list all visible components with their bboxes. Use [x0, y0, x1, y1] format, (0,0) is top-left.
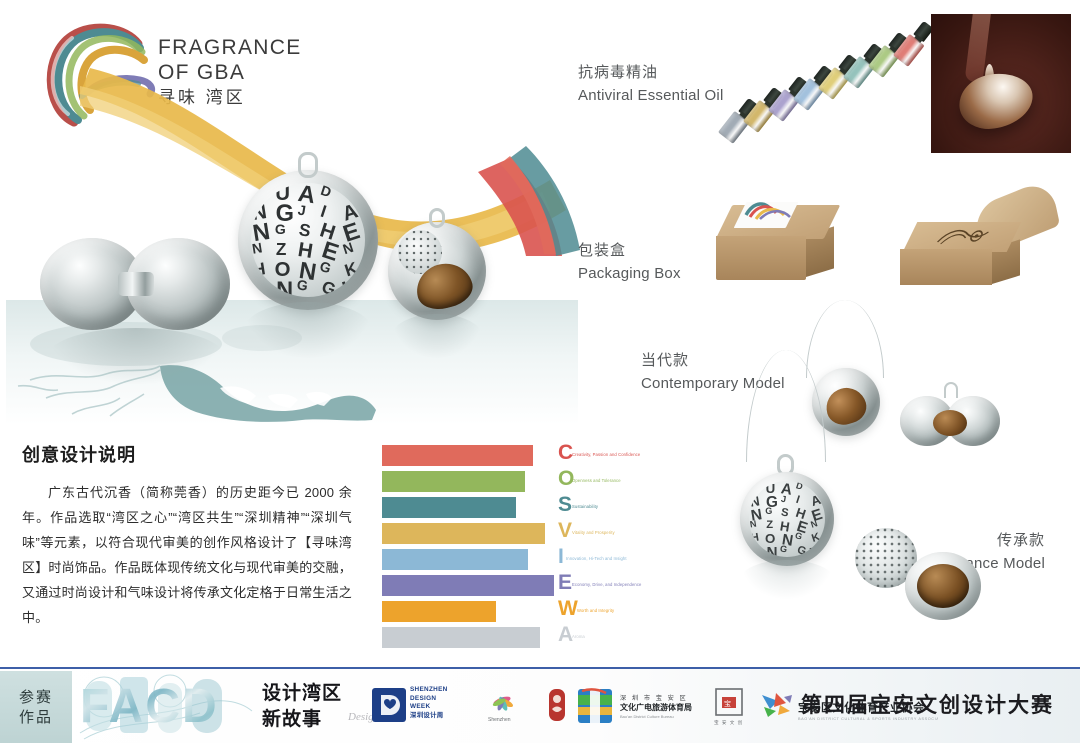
chart-bar [382, 627, 540, 648]
flower-burst-icon: Shenzhen [482, 685, 540, 729]
entry-badge-line-2: 作品 [19, 708, 53, 728]
footer-art-word: FACD [80, 679, 219, 734]
description-title: 创意设计说明 [22, 441, 352, 467]
chart-label: Sustainability [572, 504, 598, 510]
chart-letter: A [558, 622, 573, 648]
sdw-logo-text: SHENZHENDESIGNWEEK深圳设计周 [410, 686, 448, 720]
label-cn: 抗病毒精油 [578, 62, 723, 84]
locket-glyph: N [749, 519, 757, 529]
inheritance-necklace-product: GUADONGJIANGSHENZHENHONGKONGGU [720, 350, 850, 610]
locket-glyph: Z [766, 520, 773, 531]
locket-glyph: O [749, 544, 761, 557]
locket-glyph: O [251, 277, 269, 297]
chart-bar [382, 601, 496, 622]
locket-glyph: Z [276, 241, 287, 258]
packaging-box-closed [716, 205, 840, 289]
locket-glyph: J [297, 202, 307, 217]
chart-bar [382, 523, 545, 544]
chart-label: Vitality and Prosperity [572, 530, 615, 536]
locket-glyph: G [765, 507, 772, 516]
locket-glyph: G [251, 183, 267, 202]
chart-bar [382, 445, 533, 466]
chart-letter: W [558, 596, 578, 622]
clamshell-reflection [48, 328, 224, 384]
bao-an-district-logo: 宝 宝 安 文 创 [708, 685, 752, 729]
sponsor-logo-row: SHENZHENDESIGNWEEK深圳设计周 Shenzhen [372, 685, 792, 731]
necklace-chain [746, 350, 826, 462]
chart-row: AAroma [382, 625, 672, 651]
poster-footer: 参赛 作品 FACD 设计湾区 新故事 Design [0, 667, 1080, 743]
footer-art-graphic: FACD [74, 671, 254, 743]
svg-text:宝: 宝 [724, 699, 731, 708]
poster-canvas: FRAGRANCE OF GBA 寻味 湾区 [0, 0, 1080, 743]
footer-slogan: 设计湾区 新故事 Design [262, 681, 342, 733]
locket-glyph: N [251, 240, 263, 255]
small-locket-reflection [392, 314, 482, 358]
chart-letter: I [558, 544, 564, 570]
locket-glyph: N [767, 546, 778, 557]
chart-row: EEconomy, Drive, and Independence [382, 573, 672, 599]
sdw-mark-icon [372, 688, 406, 722]
packaging-box-open [900, 195, 1068, 291]
description-body: 广东古代沉香（简称莞香）的历史距今已 2000 余年。作品选取“湾区之心”“湾区… [22, 480, 352, 630]
chart-row: CCreativity, Passion and Confidence [382, 443, 672, 469]
entry-badge: 参赛 作品 [0, 671, 72, 743]
chart-bar [382, 497, 516, 518]
slogan-line-2: 新故事 [262, 707, 342, 733]
chart-label: Economy, Drive, and Independence [572, 582, 641, 588]
ribbon-bow-icon [744, 199, 798, 221]
chart-row: WWorth and Integrity [382, 599, 672, 625]
locket-letter-pattern: GUADONGJIANGSHENZHENHONGKONGGU [251, 183, 365, 297]
svg-text:深 圳 市 宝 安 区: 深 圳 市 宝 安 区 [620, 694, 688, 702]
locket-glyph: G [794, 531, 804, 542]
clamshell-hinge [118, 272, 154, 296]
chart-bar [382, 471, 525, 492]
shenzhen-design-week-logo: SHENZHENDESIGNWEEK深圳设计周 [372, 685, 472, 729]
chart-row: OOpenness and Tolerance [382, 469, 672, 495]
lettered-locket-product: GUADONGJIANGSHENZHENHONGKONGGU [238, 170, 378, 310]
label-cn: 包装盒 [578, 240, 681, 262]
svg-text:文化广电旅游体育局: 文化广电旅游体育局 [620, 702, 692, 712]
locket-glyph: D [319, 183, 333, 199]
chart-bar [382, 575, 554, 596]
label-en: Packaging Box [578, 262, 681, 285]
locket-glyph: I [319, 203, 329, 221]
locket-glyph: O [765, 532, 775, 545]
chart-row: VVitality and Prosperity [382, 521, 672, 547]
chart-letter: E [558, 570, 572, 596]
competition-title: 第四届宝安文创设计大赛 [801, 689, 1054, 719]
pendant-letter-pattern: GUADONGJIANGSHENZHENHONGKONGGU [749, 481, 825, 557]
chart-row: IInnovation, Hi-Tech and Insight [382, 547, 672, 573]
small-locket-bail [429, 208, 445, 228]
creative-design-description: 创意设计说明 广东古代沉香（简称莞香）的历史距今已 2000 余年。作品选取“湾… [22, 441, 352, 630]
chart-label: Worth and Integrity [577, 608, 614, 614]
hero-product-scene: GUADONGJIANGSHENZHENHONGKONGGU [0, 0, 580, 420]
label-en: Antiviral Essential Oil [578, 84, 723, 107]
locket-glyph: O [342, 183, 360, 203]
clamshell-model-product [900, 392, 1000, 454]
culture-bureau-icon: 深 圳 市 宝 安 区 文化广电旅游体育局 Bao'an District Cu… [576, 685, 702, 729]
locket-glyph: D [795, 481, 804, 492]
chart-letter: C [558, 440, 573, 466]
label-antiviral-essential-oil: 抗病毒精油 Antiviral Essential Oil [578, 62, 723, 107]
locket-glyph: J [780, 494, 786, 504]
chart-label: Openness and Tolerance [572, 478, 621, 484]
perforated-locket-product [388, 222, 486, 320]
label-packaging-box: 包装盒 Packaging Box [578, 240, 681, 285]
shenzhen-flower-logo: Shenzhen [482, 685, 540, 729]
clamshell-pendant-product [40, 238, 230, 330]
cosviewa-bar-chart: CCreativity, Passion and ConfidenceOOpen… [382, 443, 672, 651]
chart-letter: S [558, 492, 572, 518]
chart-label: Creativity, Passion and Confidence [572, 452, 640, 458]
locket-glyph: G [750, 481, 760, 493]
red-seal-logo [544, 685, 570, 729]
clamshell-agarwood [933, 410, 967, 436]
locket-glyph: H [252, 260, 267, 279]
locket-glyph: N [276, 280, 293, 298]
locket-reflection [244, 302, 372, 358]
seal-icon [544, 685, 570, 729]
clamshell-hook [944, 382, 958, 398]
slogan-line-1: 设计湾区 [262, 681, 342, 707]
dropper-shell-photo [931, 14, 1071, 153]
chart-bar [382, 549, 528, 570]
box-front-panel [716, 236, 806, 280]
locket-glyph: S [297, 222, 311, 241]
locket-glyph: G [275, 222, 286, 236]
chart-label: Aroma [572, 634, 585, 640]
svg-text:Bao'an District Culture Bureau: Bao'an District Culture Bureau [620, 714, 674, 719]
chart-row: SSustainability [382, 495, 672, 521]
essential-oil-bottle-set [716, 8, 926, 124]
locket-glyph: G [296, 278, 309, 294]
locket-glyph: G [779, 544, 787, 554]
chart-label: Innovation, Hi-Tech and Insight [566, 556, 627, 562]
svg-text:宝 安 文 创: 宝 安 文 创 [714, 719, 743, 726]
pendant-reflection [740, 560, 834, 600]
open-locket-agarwood [917, 564, 969, 608]
sdw-glyph-icon [372, 688, 406, 722]
district-mark-icon: 宝 宝 安 文 创 [708, 685, 752, 729]
open-locket-product [855, 528, 985, 624]
chart-letter: V [558, 518, 572, 544]
entry-badge-line-1: 参赛 [19, 688, 53, 708]
box-front-panel [900, 249, 992, 285]
locket-bail [298, 152, 318, 178]
culture-bureau-logo: 深 圳 市 宝 安 区 文化广电旅游体育局 Bao'an District Cu… [576, 685, 702, 729]
svg-text:Shenzhen: Shenzhen [488, 717, 511, 723]
